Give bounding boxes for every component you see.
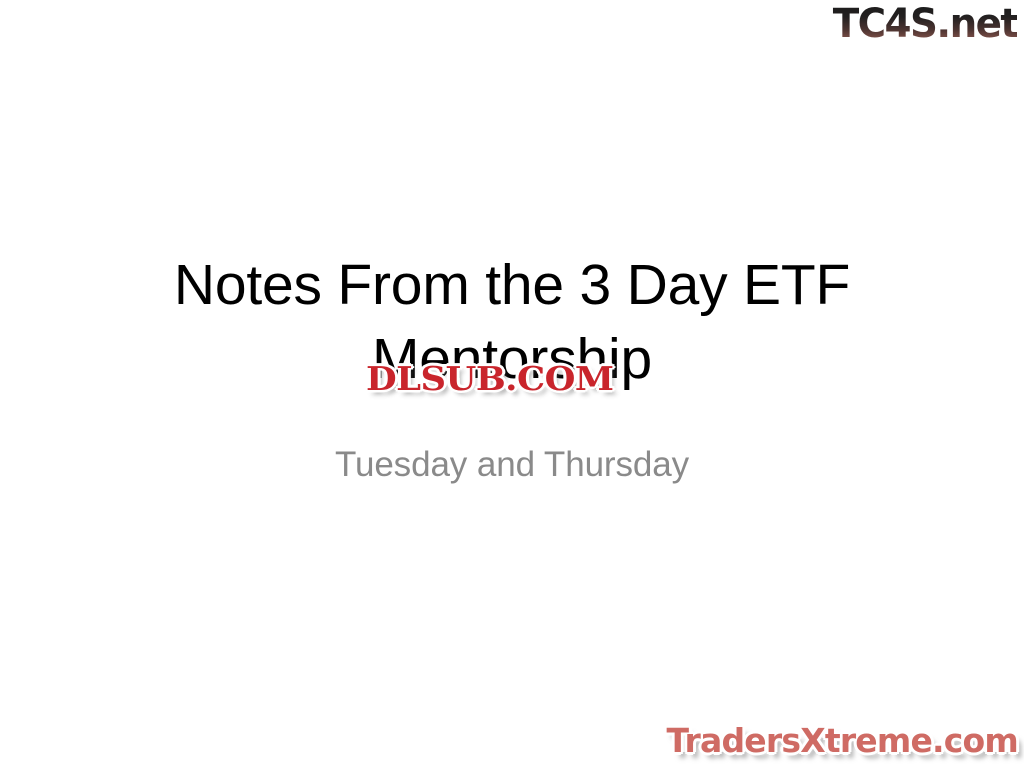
presentation-slide: TC4S.net Notes From the 3 Day ETF Mentor… (0, 0, 1024, 768)
dlsub-watermark: DLSUB.COM (366, 360, 614, 398)
subtitle-block: Tuesday and Thursday (0, 442, 1024, 488)
page-subtitle: Tuesday and Thursday (0, 442, 1024, 488)
tradersxtreme-watermark: TradersXtreme.com (666, 720, 1018, 762)
tc4s-logo-watermark: TC4S.net (832, 2, 1017, 46)
